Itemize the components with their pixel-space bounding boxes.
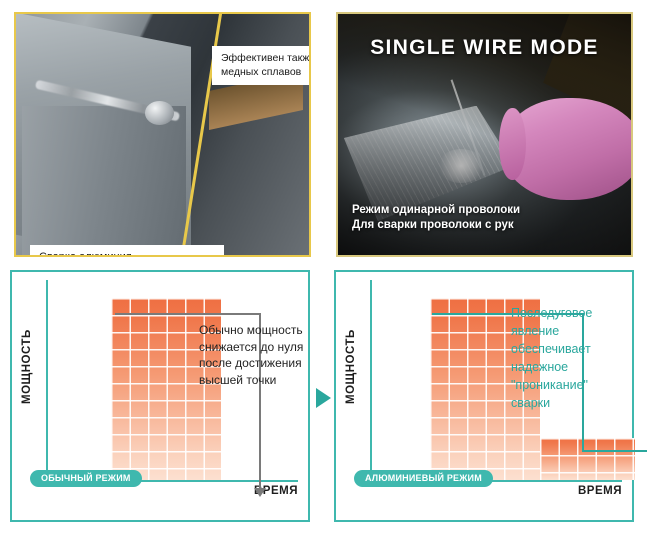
drop-path-horizontal (115, 313, 261, 315)
photo-single-wire-mode: SINGLE WIRE MODE Режим одинарной проволо… (336, 12, 633, 257)
single-wire-mode-caption: Режим одинарной проволоки Для сварки про… (352, 203, 520, 233)
aluminium-plate-face (22, 106, 186, 255)
badge-conventional-mode: ОБЫЧНЫЙ РЕЖИМ (30, 470, 142, 487)
note-conventional-mode: Обычно мощность снижается до нуля после … (199, 322, 309, 388)
copper-callout-label: Эффективен также для медных сплавов (212, 46, 311, 85)
x-axis-label-right: ВРЕМЯ (578, 485, 622, 497)
welding-torch-tip (499, 108, 525, 180)
y-axis-label-left: МОЩНОСТЬ (21, 286, 43, 448)
chart-aluminium-mode: МОЩНОСТЬ ВРЕМЯ Последуговое явление обес… (334, 270, 634, 522)
chart-conventional-mode: МОЩНОСТЬ ВРЕМЯ Обычно мощность снижается… (10, 270, 310, 522)
transition-arrow-icon (316, 388, 331, 408)
note-aluminium-mode: Последуговое явление обеспечивает надежн… (511, 304, 633, 412)
weld-bead-end (145, 101, 174, 125)
power-path-plateau (582, 450, 647, 452)
drop-arrow-head-icon (254, 488, 266, 497)
aluminium-caption-label: Сварка алюминия (30, 245, 224, 257)
bar-afterglow-power (540, 438, 635, 480)
badge-aluminium-mode: АЛЮМИНИЕВЫЙ РЕЖИМ (354, 470, 493, 487)
y-axis-label-right: МОЩНОСТЬ (345, 286, 367, 448)
single-wire-mode-title: SINGLE WIRE MODE (338, 36, 631, 60)
photo-aluminium-welding: Эффективен также для медных сплавов Свар… (14, 12, 311, 257)
